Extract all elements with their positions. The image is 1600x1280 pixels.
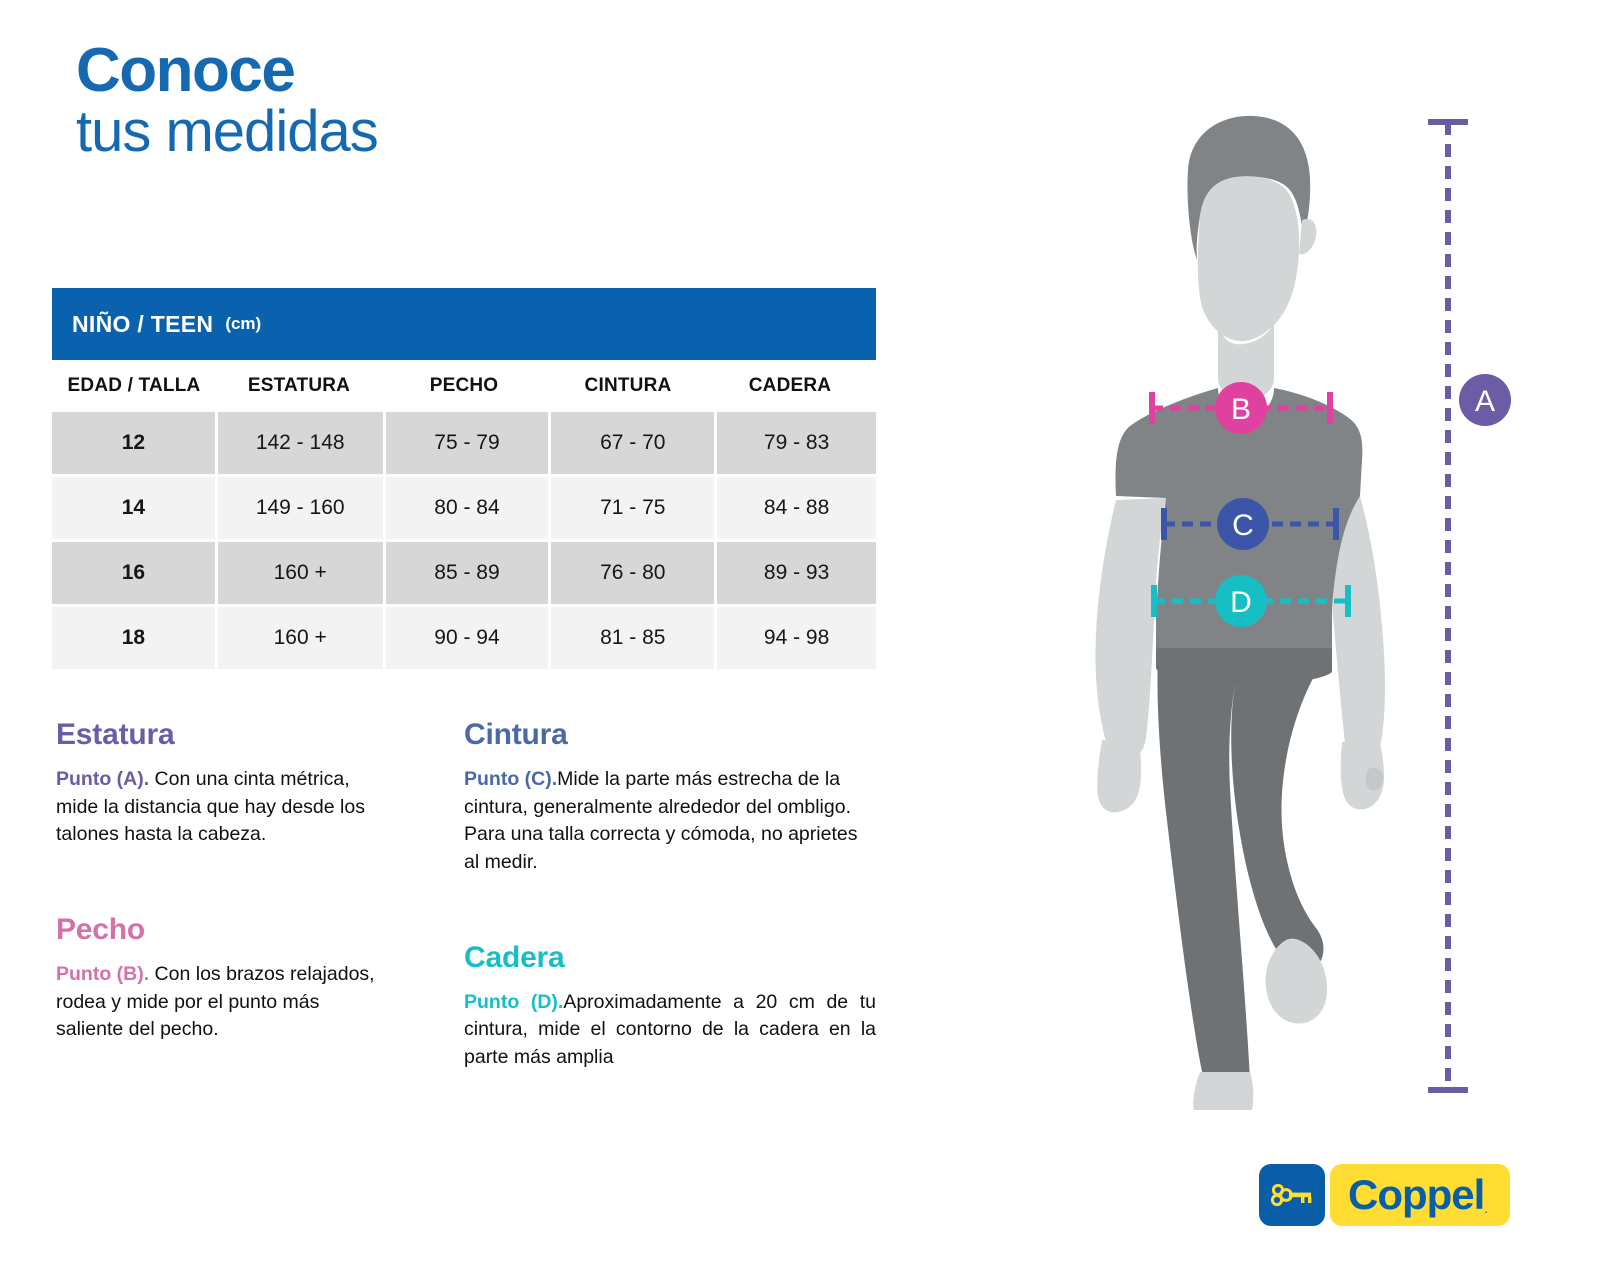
cell-cintura: 76 - 80 [551, 542, 714, 604]
instruction-text-cadera: Punto (D).Aproximadamente a 20 cm de tu … [464, 989, 876, 1072]
instruction-text-estatura: Punto (A). Con una cinta métrica, mide l… [56, 766, 392, 849]
head-shape [1198, 176, 1299, 341]
coppel-logo: Coppel . [1259, 1164, 1510, 1226]
table-row: 18 160 + 90 - 94 81 - 85 94 - 98 [52, 607, 876, 669]
marker-b-letter: B [1231, 393, 1251, 426]
column-header-pecho: PECHO [382, 375, 546, 397]
cell-estatura: 149 - 160 [218, 477, 383, 539]
size-table-banner-unit: (cm) [225, 314, 261, 334]
instruction-heading-estatura: Estatura [56, 718, 392, 752]
instruction-point-cintura: Punto (C). [464, 768, 557, 790]
instructions-left-column: Estatura Punto (A). Con una cinta métric… [56, 718, 392, 1074]
instruction-text-cintura: Punto (C).Mide la parte más estrecha de … [464, 766, 876, 877]
instruction-point-estatura: Punto (A). [56, 768, 149, 790]
logo-wordmark: Coppel [1348, 1171, 1484, 1219]
cell-cadera: 79 - 83 [717, 412, 876, 474]
cell-cintura: 67 - 70 [551, 412, 714, 474]
size-table-header-row: EDAD / TALLA ESTATURA PECHO CINTURA CADE… [52, 360, 876, 412]
cell-pecho: 90 - 94 [386, 607, 549, 669]
column-header-estatura: ESTATURA [216, 375, 382, 397]
key-icon [1269, 1182, 1315, 1208]
table-row: 14 149 - 160 80 - 84 71 - 75 84 - 88 [52, 477, 876, 539]
column-header-cintura: CINTURA [546, 375, 710, 397]
cell-estatura: 160 + [218, 542, 383, 604]
cell-estatura: 160 + [218, 607, 383, 669]
hip-band-shape [1156, 648, 1332, 686]
column-header-edad-talla: EDAD / TALLA [52, 375, 216, 397]
instructions-right-column: Cintura Punto (C).Mide la parte más estr… [464, 718, 876, 1102]
marker-c-letter: C [1232, 509, 1254, 542]
instruction-cadera: Cadera Punto (D).Aproximadamente a 20 cm… [464, 941, 876, 1072]
page-title: Conoce tus medidas [76, 38, 378, 164]
instruction-text-pecho: Punto (B). Con los brazos relajados, rod… [56, 961, 392, 1044]
instruction-heading-cintura: Cintura [464, 718, 876, 752]
marker-d: D [1215, 575, 1267, 627]
cell-edad-talla: 14 [52, 477, 215, 539]
instruction-cintura: Cintura Punto (C).Mide la parte más estr… [464, 718, 876, 877]
instruction-estatura: Estatura Punto (A). Con una cinta métric… [56, 718, 392, 849]
size-table: NIÑO / TEEN (cm) EDAD / TALLA ESTATURA P… [52, 288, 876, 672]
marker-a-letter: A [1475, 385, 1495, 418]
cell-cintura: 81 - 85 [551, 607, 714, 669]
cell-edad-talla: 18 [52, 607, 215, 669]
instruction-heading-pecho: Pecho [56, 913, 392, 947]
page-title-line1: Conoce [76, 38, 378, 105]
body-measurement-figure: A B C [1040, 100, 1600, 1120]
instruction-point-cadera: Punto (D). [464, 991, 563, 1013]
page-title-line2: tus medidas [76, 101, 378, 164]
logo-registered-mark: . [1484, 1201, 1488, 1216]
measure-line-a [1428, 122, 1468, 1090]
left-arm-shape [1095, 498, 1166, 760]
cell-pecho: 75 - 79 [386, 412, 549, 474]
cell-cintura: 71 - 75 [551, 477, 714, 539]
logo-key-box [1259, 1164, 1325, 1226]
instruction-heading-cadera: Cadera [464, 941, 876, 975]
size-table-banner: NIÑO / TEEN (cm) [52, 288, 876, 360]
table-row: 12 142 - 148 75 - 79 67 - 70 79 - 83 [52, 412, 876, 474]
table-row: 16 160 + 85 - 89 76 - 80 89 - 93 [52, 542, 876, 604]
cell-cadera: 84 - 88 [717, 477, 876, 539]
marker-d-letter: D [1230, 586, 1252, 619]
cell-edad-talla: 12 [52, 412, 215, 474]
instruction-point-pecho: Punto (B). [56, 963, 149, 985]
left-foot-shape [1193, 1072, 1253, 1110]
cell-estatura: 142 - 148 [218, 412, 383, 474]
instruction-pecho: Pecho Punto (B). Con los brazos relajado… [56, 913, 392, 1044]
marker-a: A [1459, 374, 1511, 426]
size-table-banner-title: NIÑO / TEEN [72, 311, 213, 338]
cell-pecho: 85 - 89 [386, 542, 549, 604]
logo-word-box: Coppel . [1330, 1164, 1510, 1226]
column-header-cadera: CADERA [710, 375, 870, 397]
marker-b: B [1215, 382, 1267, 434]
cell-edad-talla: 16 [52, 542, 215, 604]
pants-right-leg-shape [1231, 656, 1332, 972]
marker-c: C [1217, 498, 1269, 550]
left-hand-shape [1097, 740, 1141, 812]
cell-cadera: 94 - 98 [717, 607, 876, 669]
cell-pecho: 80 - 84 [386, 477, 549, 539]
figure-svg: A B C [1040, 100, 1600, 1120]
cell-cadera: 89 - 93 [717, 542, 876, 604]
